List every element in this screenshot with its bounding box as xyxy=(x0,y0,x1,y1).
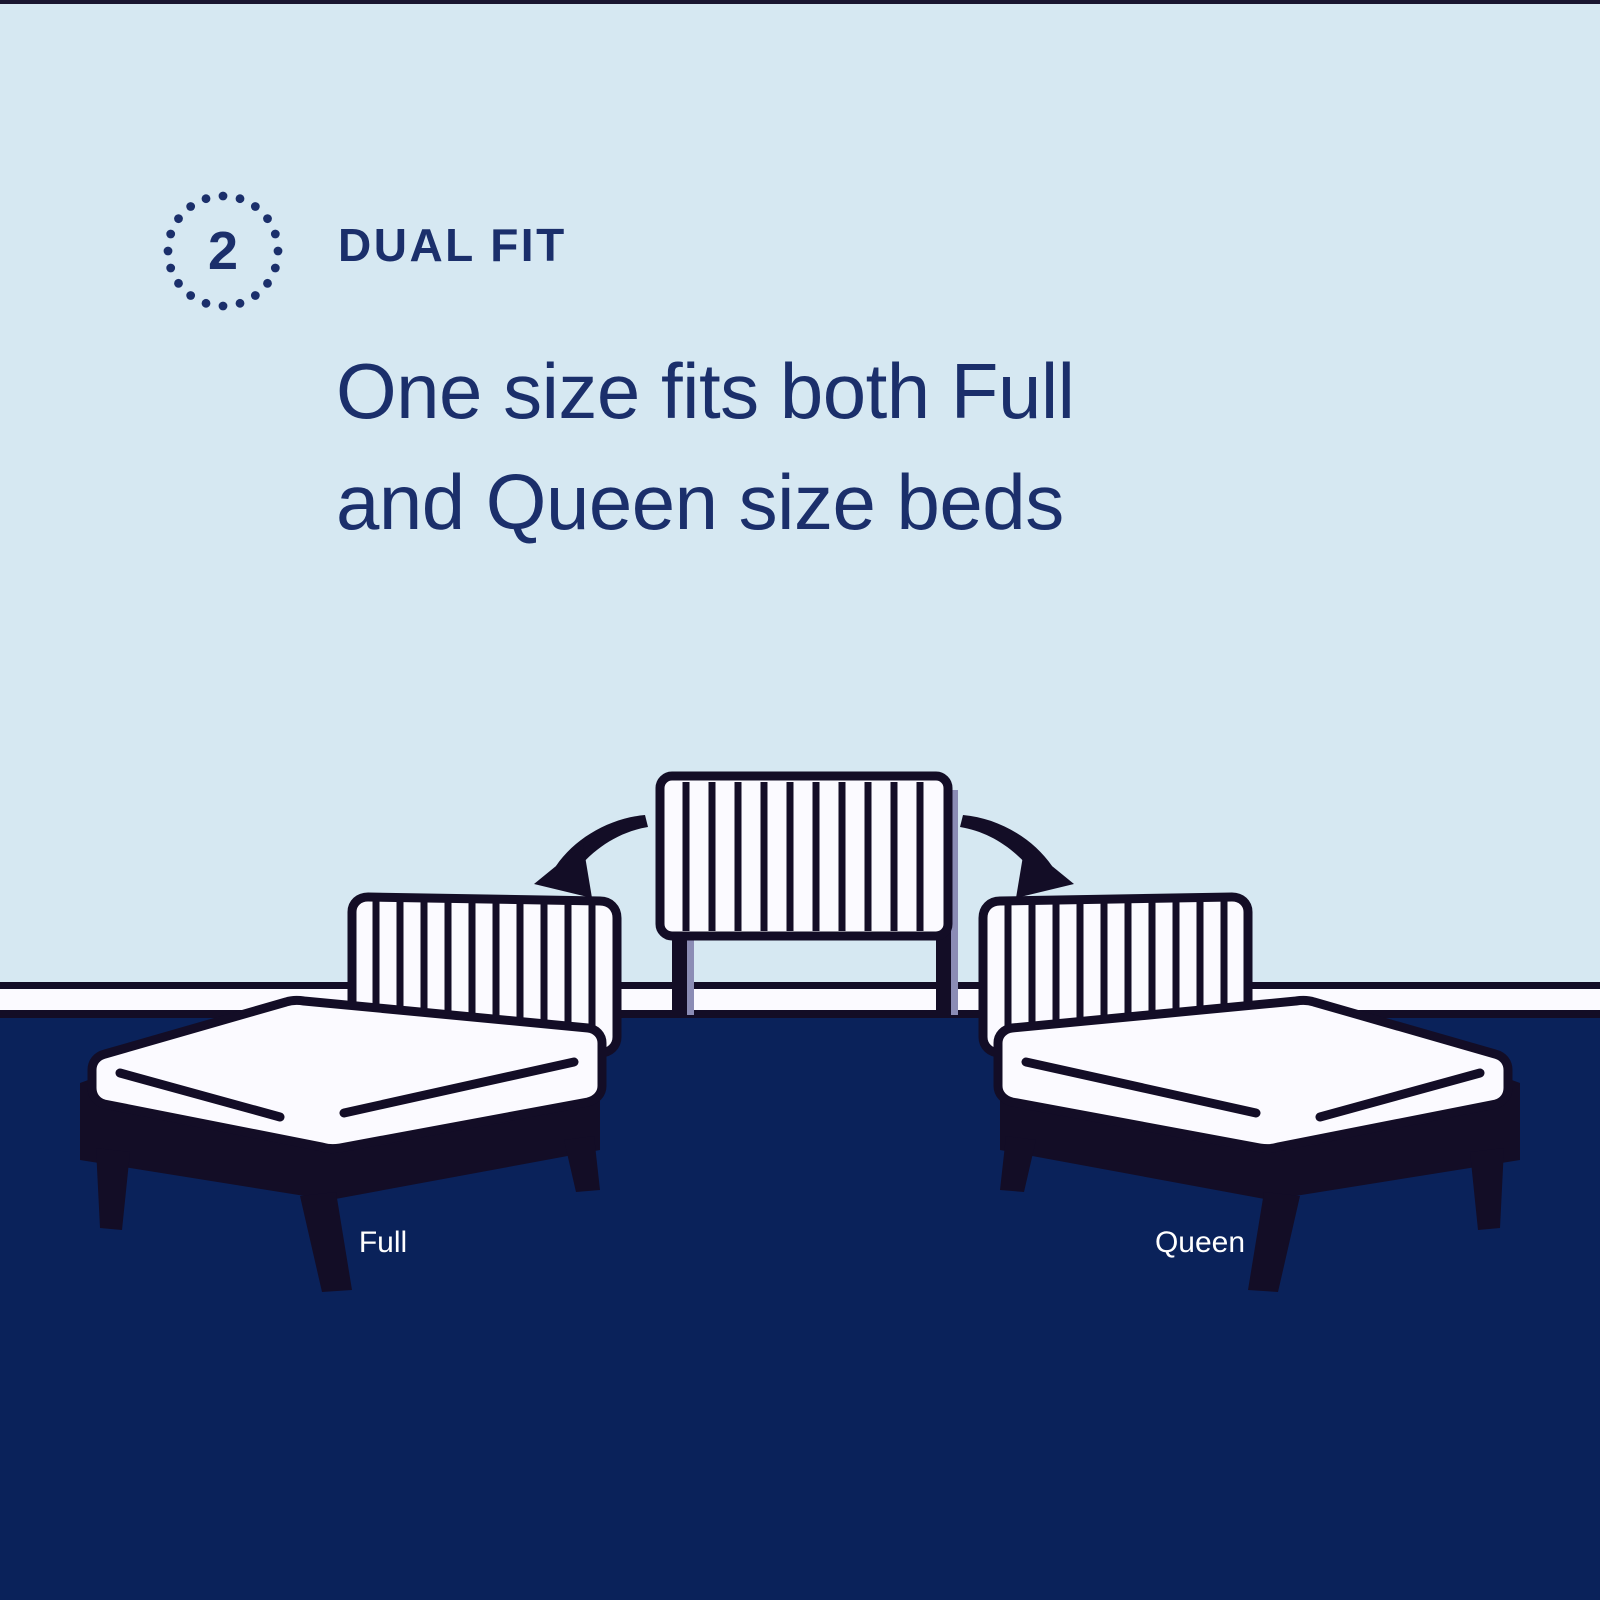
dual-fit-infographic: 2 DUAL FIT One size fits both Full and Q… xyxy=(0,0,1600,1600)
headline-line-2: and Queen size beds xyxy=(336,447,1336,558)
step-badge: 2 xyxy=(158,186,288,316)
baseboard-top-line xyxy=(0,982,1600,989)
canvas-top-border xyxy=(0,0,1600,4)
full-bed-label: Full xyxy=(359,1226,407,1260)
eyebrow-label: DUAL FIT xyxy=(338,218,567,272)
headline-line-1: One size fits both Full xyxy=(336,336,1336,447)
queen-bed-label: Queen xyxy=(1155,1226,1245,1260)
page-title: One size fits both Full and Queen size b… xyxy=(336,336,1336,558)
step-number: 2 xyxy=(158,186,288,316)
center-headboard-panel xyxy=(660,776,948,936)
